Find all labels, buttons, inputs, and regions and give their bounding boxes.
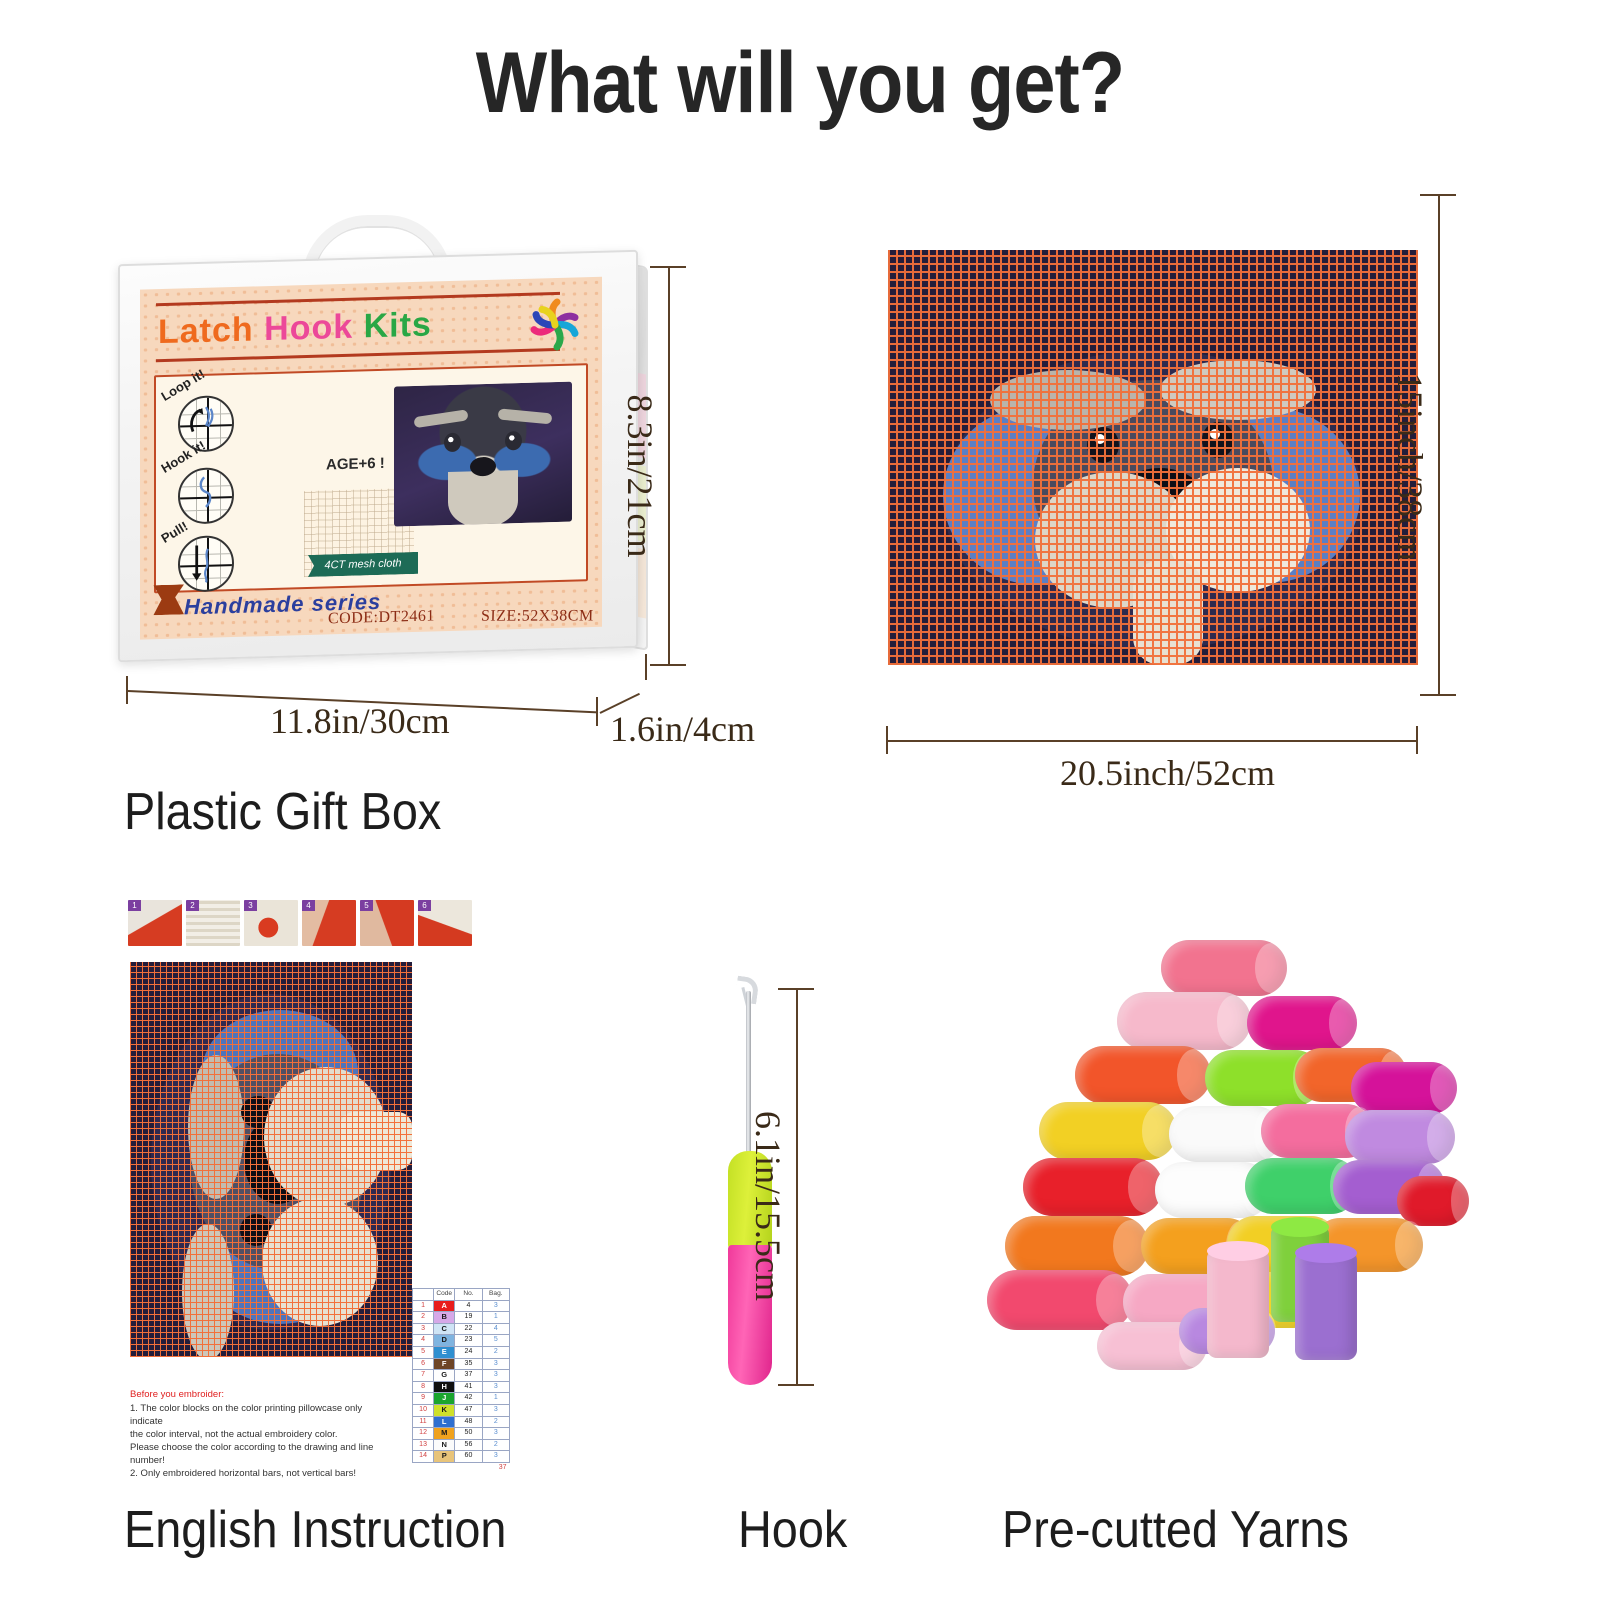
step-thumbnail: 6 — [418, 900, 472, 946]
row-no: 22 — [455, 1323, 482, 1335]
color-swatch: L — [434, 1416, 455, 1428]
row-index: 7 — [413, 1370, 434, 1382]
table-row: 1A43 — [413, 1300, 510, 1312]
table-row: 8H413 — [413, 1381, 510, 1393]
table-row: 9J421 — [413, 1393, 510, 1405]
product-code: CODE:DT2461 — [328, 607, 435, 628]
table-header-row: Code No. Bag. — [413, 1289, 510, 1301]
step-thumbnail: 2 — [186, 900, 240, 946]
table-total: 37 — [482, 1462, 509, 1473]
row-index: 11 — [413, 1416, 434, 1428]
row-no: 4 — [455, 1300, 482, 1312]
table-row: 7G373 — [413, 1370, 510, 1382]
row-bag: 3 — [482, 1300, 509, 1312]
step-diagram-hook — [178, 467, 234, 525]
row-bag: 1 — [482, 1312, 509, 1324]
instruction-caption: English Instruction — [124, 1500, 506, 1560]
row-index: 1 — [413, 1300, 434, 1312]
yarn-bundle-pink — [1207, 1250, 1269, 1358]
color-swatch: B — [434, 1312, 455, 1324]
color-swatch: C — [434, 1323, 455, 1335]
table-row: 4D235 — [413, 1335, 510, 1347]
table-row: 3C224 — [413, 1323, 510, 1335]
color-swatch: D — [434, 1335, 455, 1347]
color-swatch: K — [434, 1404, 455, 1416]
table-total-row: 37 — [413, 1462, 510, 1473]
table-row: 12M503 — [413, 1428, 510, 1440]
row-bag: 3 — [482, 1358, 509, 1370]
row-bag: 4 — [482, 1323, 509, 1335]
table-row: 6F353 — [413, 1358, 510, 1370]
row-bag: 1 — [482, 1393, 509, 1405]
mesh-grid-overlay — [888, 250, 1418, 665]
yarn-bundle-purple — [1295, 1252, 1357, 1360]
pattern-chart — [130, 962, 412, 1357]
row-no: 56 — [455, 1439, 482, 1451]
table-row: 14P603 — [413, 1451, 510, 1463]
table-row: 13N562 — [413, 1439, 510, 1451]
table-row: 2B191 — [413, 1312, 510, 1324]
row-index: 9 — [413, 1393, 434, 1405]
row-no: 37 — [455, 1370, 482, 1382]
color-code-table: Code No. Bag. 1A432B1913C2244D2355E2426F… — [412, 1288, 510, 1474]
step-thumbnail: 3 — [244, 900, 298, 946]
color-swatch: E — [434, 1346, 455, 1358]
product-size: SIZE:52X38CM — [481, 607, 594, 625]
row-bag: 3 — [482, 1428, 509, 1440]
row-index: 3 — [413, 1323, 434, 1335]
col-index — [413, 1289, 434, 1301]
printed-mesh-cloth — [888, 250, 1418, 665]
step-thumbnail: 5 — [360, 900, 414, 946]
gift-box-photo: Latch Hook Kits — [112, 205, 652, 675]
row-no: 47 — [455, 1404, 482, 1416]
color-swatch: A — [434, 1300, 455, 1312]
row-index: 4 — [413, 1335, 434, 1347]
brand-title: Latch Hook Kits — [158, 305, 432, 352]
row-bag: 2 — [482, 1346, 509, 1358]
before-line-3: Please choose the color according to the… — [130, 1442, 373, 1466]
color-swatch: F — [434, 1358, 455, 1370]
hook-caption: Hook — [738, 1500, 847, 1560]
row-no: 19 — [455, 1312, 482, 1324]
brand-word-hook: Hook — [264, 308, 353, 348]
col-no: No. — [455, 1289, 482, 1301]
age-note: AGE+6 ! — [326, 455, 385, 474]
row-no: 35 — [455, 1358, 482, 1370]
yarns-caption: Pre-cutted Yarns — [1002, 1500, 1349, 1560]
color-swatch: M — [434, 1428, 455, 1440]
row-no: 41 — [455, 1381, 482, 1393]
gift-box-caption: Plastic Gift Box — [124, 782, 441, 842]
table-row: 5E242 — [413, 1346, 510, 1358]
col-bag: Bag. — [482, 1289, 509, 1301]
row-no: 60 — [455, 1451, 482, 1463]
brand-word-kits: Kits — [364, 305, 432, 345]
step-thumbnail: 1 — [128, 900, 182, 946]
step-thumbnails: 1 2 3 4 5 6 — [128, 900, 476, 948]
color-swatch: G — [434, 1370, 455, 1382]
english-instruction-sheet: 1 2 3 4 5 6 — [128, 900, 418, 1480]
row-no: 42 — [455, 1393, 482, 1405]
pre-cutted-yarns-photo — [965, 930, 1465, 1400]
before-line-2: the color interval, not the actual embro… — [130, 1429, 338, 1440]
row-index: 14 — [413, 1451, 434, 1463]
pinwheel-logo-icon — [524, 293, 586, 357]
row-index: 5 — [413, 1346, 434, 1358]
row-bag: 5 — [482, 1335, 509, 1347]
row-no: 23 — [455, 1335, 482, 1347]
box-lid: Latch Hook Kits — [118, 250, 638, 663]
brand-word-latch: Latch — [158, 310, 254, 351]
row-index: 12 — [413, 1428, 434, 1440]
row-index: 8 — [413, 1381, 434, 1393]
row-no: 50 — [455, 1428, 482, 1440]
color-swatch: H — [434, 1381, 455, 1393]
page-title: What will you get? — [96, 34, 1504, 133]
color-swatch: P — [434, 1451, 455, 1463]
step-diagram-loop — [178, 395, 234, 453]
col-code: Code — [434, 1289, 455, 1301]
row-no: 24 — [455, 1346, 482, 1358]
table-row: 10K473 — [413, 1404, 510, 1416]
row-bag: 3 — [482, 1370, 509, 1382]
before-line-1: 1. The color blocks on the color printin… — [130, 1403, 362, 1427]
product-infographic: What will you get? Latch Hook Kits — [0, 0, 1600, 1600]
mesh-canvas-photo — [888, 250, 1418, 665]
row-index: 2 — [413, 1312, 434, 1324]
before-heading: Before you embroider: — [130, 1388, 392, 1401]
color-swatch: J — [434, 1393, 455, 1405]
row-bag: 2 — [482, 1439, 509, 1451]
row-bag: 3 — [482, 1381, 509, 1393]
row-bag: 3 — [482, 1404, 509, 1416]
before-line-4: 2. Only embroidered horizontal bars, not… — [130, 1468, 356, 1479]
color-swatch: N — [434, 1439, 455, 1451]
step-thumbnail: 4 — [302, 900, 356, 946]
row-bag: 3 — [482, 1451, 509, 1463]
row-index: 6 — [413, 1358, 434, 1370]
mesh-cloth-banner: 4CT mesh cloth — [308, 552, 418, 577]
row-no: 48 — [455, 1416, 482, 1428]
table-row: 11L482 — [413, 1416, 510, 1428]
box-label: Latch Hook Kits — [140, 277, 602, 640]
row-index: 10 — [413, 1404, 434, 1416]
before-you-embroider-note: Before you embroider: 1. The color block… — [130, 1388, 392, 1480]
pattern-grid-overlay — [130, 962, 412, 1357]
row-bag: 2 — [482, 1416, 509, 1428]
instruction-panel: Loop it! Hook it! — [154, 363, 588, 593]
dog-preview-image — [394, 382, 572, 527]
step-diagram-pull — [178, 535, 234, 593]
row-index: 13 — [413, 1439, 434, 1451]
